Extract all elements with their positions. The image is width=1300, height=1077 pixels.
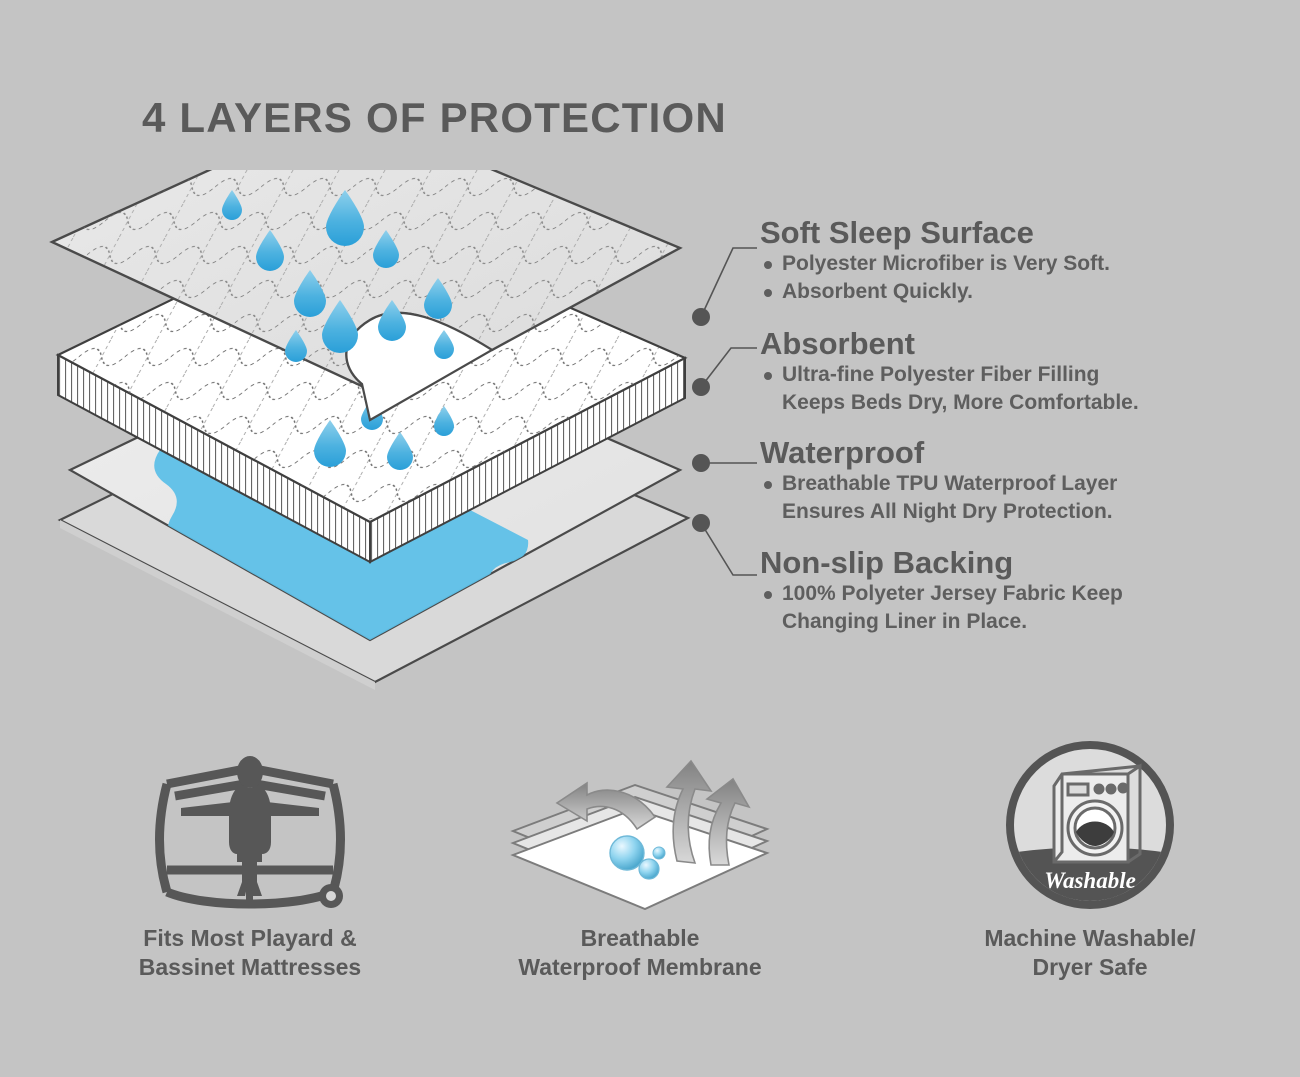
callout-soft-sleep-surface: Soft Sleep Surface Polyester Microfiber …	[760, 217, 1110, 305]
feature-machine-washable: Washable Machine Washable/ Dryer Safe	[880, 745, 1300, 983]
callout-bullets: 100% Polyeter Jersey Fabric Keep Changin…	[760, 580, 1123, 635]
page-title: 4 LAYERS OF PROTECTION	[142, 94, 727, 142]
callout-bullets: Breathable TPU Waterproof Layer Ensures …	[760, 470, 1117, 525]
playard-crib-icon	[60, 745, 440, 910]
callout-heading: Waterproof	[760, 437, 1117, 470]
layer-stack-diagram	[40, 170, 720, 710]
callout-waterproof: Waterproof Breathable TPU Waterproof Lay…	[760, 437, 1117, 525]
callout-bullets: Ultra-fine Polyester Fiber Filling Keeps…	[760, 361, 1139, 416]
callout-heading: Absorbent	[760, 328, 1139, 361]
feature-breathable-membrane: Breathable Waterproof Membrane	[440, 745, 840, 983]
feature-label: Fits Most Playard & Bassinet Mattresses	[60, 924, 440, 983]
washing-machine-badge-icon: Washable	[880, 745, 1300, 910]
callout-bullet: 100% Polyeter Jersey Fabric Keep Changin…	[760, 580, 1123, 635]
callout-bullet: Breathable TPU Waterproof Layer Ensures …	[760, 470, 1117, 525]
callout-non-slip-backing: Non-slip Backing 100% Polyeter Jersey Fa…	[760, 547, 1123, 635]
callout-heading: Non-slip Backing	[760, 547, 1123, 580]
feature-label: Breathable Waterproof Membrane	[440, 924, 840, 983]
washable-badge-text: Washable	[1044, 868, 1136, 893]
callout-bullet: Ultra-fine Polyester Fiber Filling Keeps…	[760, 361, 1139, 416]
breathable-membrane-icon	[440, 745, 840, 910]
feature-label: Machine Washable/ Dryer Safe	[880, 924, 1300, 983]
callout-bullet: Polyester Microfiber is Very Soft.	[760, 250, 1110, 278]
callout-bullet: Absorbent Quickly.	[760, 278, 1110, 306]
callout-bullets: Polyester Microfiber is Very Soft. Absor…	[760, 250, 1110, 305]
feature-fits-playard: Fits Most Playard & Bassinet Mattresses	[60, 745, 440, 983]
callout-absorbent: Absorbent Ultra-fine Polyester Fiber Fil…	[760, 328, 1139, 416]
callout-heading: Soft Sleep Surface	[760, 217, 1110, 250]
feature-row: Fits Most Playard & Bassinet Mattresses	[0, 745, 1300, 1025]
infographic-root: 4 LAYERS OF PROTECTION	[0, 0, 1300, 1077]
